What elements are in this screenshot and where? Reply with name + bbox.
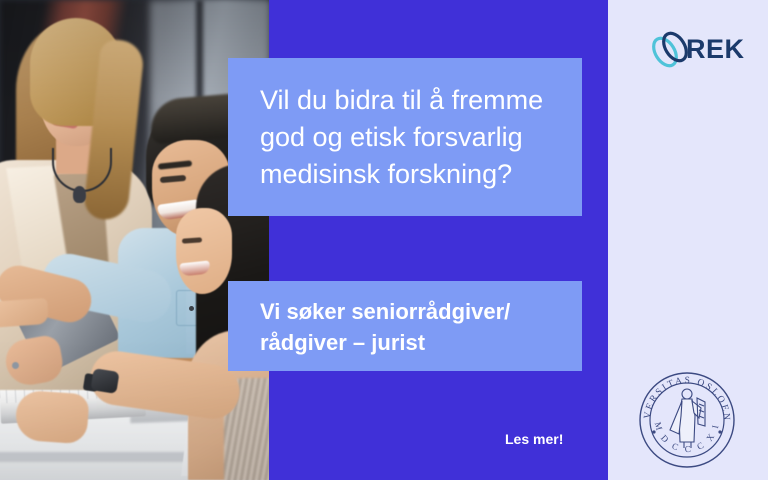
- recruitment-banner: REK UNIVERSITAS OSLOENSIS M D C C C X I: [0, 0, 768, 480]
- headline-line-3: medisinsk forskning?: [260, 156, 560, 193]
- headline-box: Vil du bidra til å fremme god og etisk f…: [228, 58, 582, 216]
- job-title-text: Vi søker seniorrådgiver/ rådgiver – juri…: [260, 296, 566, 358]
- headline-line-1: Vil du bidra til å fremme: [260, 82, 560, 119]
- job-title-line-2: rådgiver – jurist: [260, 327, 566, 358]
- job-title-box: Vi søker seniorrådgiver/ rådgiver – juri…: [228, 281, 582, 371]
- read-more-link[interactable]: Les mer!: [505, 431, 563, 447]
- headline-text: Vil du bidra til å fremme god og etisk f…: [260, 82, 560, 193]
- uio-seal-mark: UNIVERSITAS OSLOENSIS M D C C C X I: [635, 368, 739, 472]
- rek-logo: REK: [648, 26, 748, 74]
- uio-seal: UNIVERSITAS OSLOENSIS M D C C C X I: [635, 368, 739, 472]
- job-title-line-1: Vi søker seniorrådgiver/: [260, 296, 566, 327]
- headline-line-2: god og etisk forsvarlig: [260, 119, 560, 156]
- rek-logo-text: REK: [686, 34, 745, 65]
- seal-dot-right: [718, 430, 721, 433]
- seal-figure: [670, 389, 705, 448]
- seal-dot-left: [652, 430, 655, 433]
